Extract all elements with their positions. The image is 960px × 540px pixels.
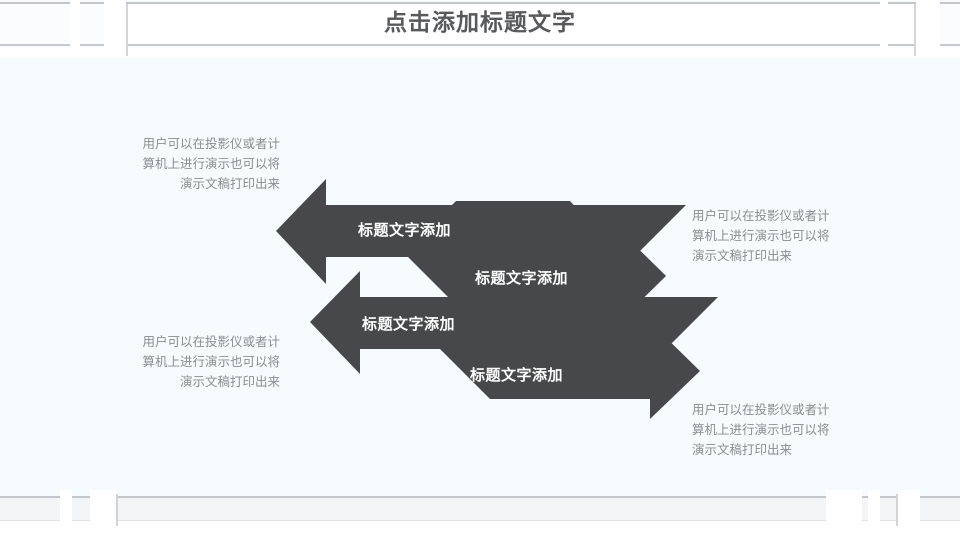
arrow-label-4: 标题文字添加: [470, 364, 563, 385]
callout-top-left: 用户可以在投影仪或者计 算机上进行演示也可以将 演示文稿打印出来: [100, 134, 280, 194]
arrow-label-2: 标题文字添加: [475, 267, 568, 288]
callout-bottom-left: 用户可以在投影仪或者计 算机上进行演示也可以将 演示文稿打印出来: [100, 332, 280, 392]
callout-bottom-right: 用户可以在投影仪或者计 算机上进行演示也可以将 演示文稿打印出来: [692, 400, 872, 460]
slide-canvas: 点击添加标题文字 标题文字添加 标题文字添加 标题文字添加 标题文字添加 用户可…: [0, 0, 960, 540]
arrow-label-3: 标题文字添加: [362, 313, 455, 334]
arrow-label-1: 标题文字添加: [358, 219, 451, 240]
callout-top-right: 用户可以在投影仪或者计 算机上进行演示也可以将 演示文稿打印出来: [692, 206, 872, 266]
